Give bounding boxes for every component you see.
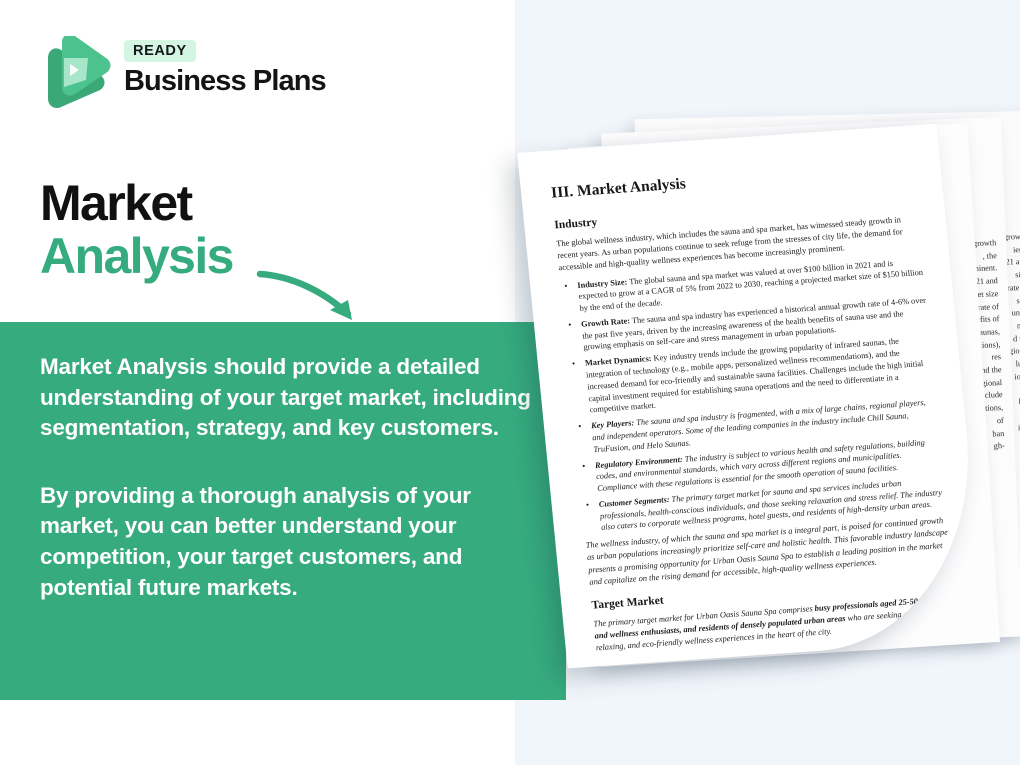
description-paragraph-2: By providing a thorough analysis of your… [40, 481, 545, 603]
document-bullet-term: Growth Rate: [581, 316, 631, 328]
brand-logo[interactable]: READY Business Plans [40, 36, 330, 116]
document-bullet-term: Key Players: [591, 418, 635, 430]
brand-name: Business Plans [124, 66, 326, 98]
description-block: Market Analysis should provide a detaile… [40, 352, 545, 603]
document-body: III. Market Analysis Industry The global… [517, 124, 987, 669]
document-bullet-term: Industry Size: [577, 277, 628, 289]
page-title-line-2: Analysis [40, 231, 233, 282]
double-play-triangle-logo-icon [40, 36, 112, 110]
curved-down-right-arrow-icon [256, 266, 372, 328]
document-heading: III. Market Analysis [550, 159, 915, 202]
document-bullet-list: Industry Size: The global sauna and spa … [560, 255, 948, 535]
document-stack: growthient.21 andsizerate ofs ofunas,ns)… [480, 95, 1020, 685]
brand-wordmark: READY Business Plans [124, 40, 326, 98]
ready-badge: READY [124, 40, 196, 62]
description-paragraph-1: Market Analysis should provide a detaile… [40, 352, 545, 444]
page-title-line-1: Market [40, 178, 233, 229]
page-title: Market Analysis [40, 178, 233, 282]
front-document-page[interactable]: III. Market Analysis Industry The global… [517, 124, 987, 669]
poster-canvas: READY Business Plans Market Analysis Mar… [0, 0, 1020, 765]
